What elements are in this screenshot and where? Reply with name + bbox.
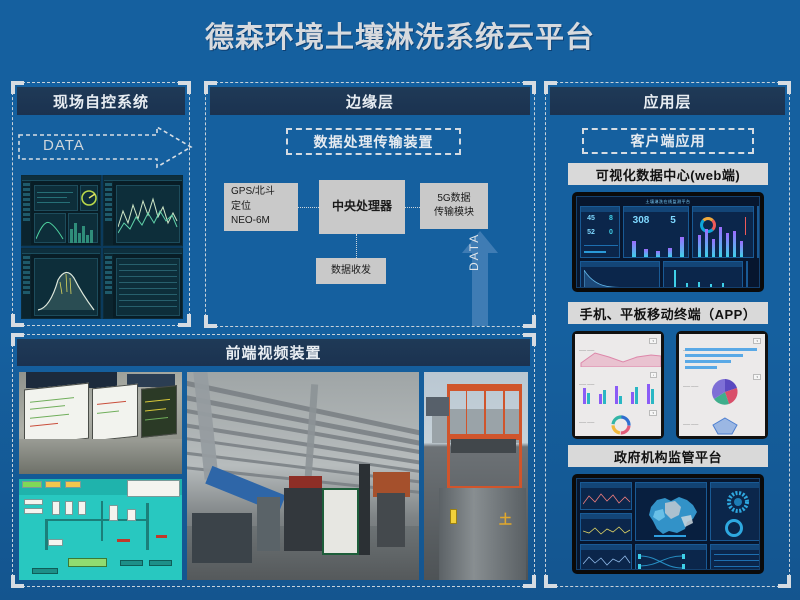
data-io-label: 数据收发 (331, 264, 371, 279)
edge-device-box: 数据处理传输装置 (286, 128, 461, 155)
gov-gauge-card (710, 482, 760, 541)
gov-dashboard-screen (576, 478, 760, 570)
equipment-marking: 土 (499, 509, 512, 528)
line-chart (583, 490, 631, 508)
tablet-1-screen: —— ——▾ —— ——▪ (575, 334, 661, 436)
data-arrow-label: DATA (467, 233, 481, 271)
web-dashboard-monitor: 土壤淋洗在线监测平台 45 8 52 0 308 5 (572, 192, 764, 292)
scada-gauge-icon (80, 187, 98, 209)
cpu-label: 中央处理器 (332, 198, 392, 215)
gov-line-card-1 (580, 482, 632, 510)
panel-header-edge-layer: 边缘层 (210, 87, 530, 115)
kpi-value-0: 45 (583, 215, 599, 222)
node-central-processor: 中央处理器 (319, 180, 405, 234)
china-map-icon (641, 491, 703, 539)
connector-cpu-5g (405, 207, 420, 208)
5g-line-2: 传输模块 (434, 206, 474, 221)
video-photo-grid: 土 (19, 372, 528, 580)
corner-bracket-br (778, 575, 791, 588)
gov-flow-card (635, 544, 707, 570)
tablet-2-radar-section: —— —— (683, 412, 761, 436)
rose-chart (683, 378, 765, 406)
tablet-device-1: —— ——▾ —— ——▪ (572, 331, 664, 439)
spike-card (663, 261, 743, 288)
kpi-value-2: 52 (583, 229, 599, 236)
web-dashboard-title: 土壤淋洗在线监测平台 (577, 199, 759, 205)
kpi-value-3: 0 (603, 229, 619, 236)
panel-header-application-layer: 应用层 (550, 87, 785, 115)
panel-header-field-control: 现场自控系统 (17, 87, 185, 115)
diagram-canvas: 德森环境土壤淋洗系统云平台 现场自控系统 DATA (0, 0, 800, 600)
kpi-value-1: 8 (603, 215, 619, 222)
area-chart (579, 345, 661, 367)
label-mobile-app: 手机、平板移动终端（APP） (568, 302, 768, 324)
gps-line-1: GPS/北斗 (231, 185, 275, 200)
tablet-2-screen: —— ——▾ —— ——▾ —— —— (679, 334, 765, 436)
tablet-2-hbars-section: —— ——▾ (683, 338, 761, 368)
label-web-data-center: 可视化数据中心(web端) (568, 163, 768, 185)
kpi-value-4: 308 (626, 215, 656, 226)
tablet-1-bars-section: —— ——▪ (579, 372, 657, 406)
panel-application-layer: 应用层 客户端应用 可视化数据中心(web端) 土壤淋洗在线监测平台 45 8 … (545, 82, 790, 587)
kpi-card: 45 8 52 0 (580, 206, 620, 258)
scada-screen-overview (21, 175, 101, 246)
donut-chart (579, 413, 661, 436)
connector-cpu-dataio (356, 234, 357, 258)
tablet-device-2: —— ——▾ —— ——▾ —— —— (676, 331, 768, 439)
panel-edge-layer: 边缘层 数据处理传输装置 GPS/北斗 定位 NEO-6M 中央处理器 5G数据… (205, 82, 535, 327)
corner-bracket-bl (204, 315, 217, 328)
label-government-platform: 政府机构监管平台 (568, 445, 768, 467)
data-flow-arrow-horizontal: DATA (17, 125, 193, 169)
gps-line-3: NEO-6M (231, 214, 270, 229)
panel-header-video-devices: 前端视频装置 (17, 339, 530, 366)
photo-plant-interior-conveyor (187, 372, 419, 580)
corner-bracket-br (523, 315, 536, 328)
decay-curve-card (580, 261, 660, 288)
video-column-middle (187, 372, 419, 580)
gov-line-card-3 (580, 544, 632, 570)
5g-line-1: 5G数据 (437, 192, 470, 207)
gov-dashboard-monitor (572, 474, 764, 574)
panel-field-control-system: 现场自控系统 DATA (12, 82, 190, 326)
kpi-value-5: 5 (660, 215, 686, 226)
donut-bars-card (692, 206, 754, 258)
kpi-bars-card: 308 5 (623, 206, 689, 258)
web-dashboard-screen: 土壤淋洗在线监测平台 45 8 52 0 308 5 (576, 196, 760, 288)
data-arrow-label: DATA (43, 137, 85, 154)
tablet-2-rose-section: —— ——▾ (683, 374, 761, 408)
scada-screen-trend (103, 175, 183, 246)
china-map-card (635, 482, 707, 541)
scada-screen-curve (21, 248, 101, 319)
page-title: 德森环境土壤淋洗系统云平台 (0, 14, 800, 56)
tablet-1-donut-section: —— ——▾ (579, 410, 657, 436)
corner-bracket-bl (544, 575, 557, 588)
radial-gauge-icon (719, 490, 757, 514)
node-5g-module: 5G数据 传输模块 (420, 183, 488, 229)
gov-table-card (710, 544, 760, 570)
tablet-1-area-section: —— ——▾ (579, 338, 657, 368)
photo-control-room-monitors (19, 372, 182, 474)
ring-chart-icon (725, 519, 743, 537)
photo-hmi-process-screen (19, 479, 182, 581)
gov-line-card-2 (580, 513, 632, 541)
sankey-flow (638, 552, 706, 570)
client-application-box: 客户端应用 (582, 128, 754, 154)
video-column-left (19, 372, 182, 580)
scada-screens-grid (21, 175, 183, 319)
video-column-right: 土 (424, 372, 528, 580)
donut-chart-icon (700, 217, 716, 233)
photo-outdoor-equipment-skid: 土 (424, 372, 528, 580)
data-flow-arrow-vertical: DATA (462, 231, 498, 326)
radar-chart (683, 415, 765, 436)
node-gps-beidou: GPS/北斗 定位 NEO-6M (224, 183, 298, 231)
connector-gps-cpu (298, 207, 319, 208)
panel-front-end-video-devices: 前端视频装置 (12, 334, 535, 587)
gps-line-2: 定位 (231, 200, 251, 215)
decay-curve (584, 270, 658, 288)
node-data-io: 数据收发 (316, 258, 386, 284)
scada-screen-table (103, 248, 183, 319)
